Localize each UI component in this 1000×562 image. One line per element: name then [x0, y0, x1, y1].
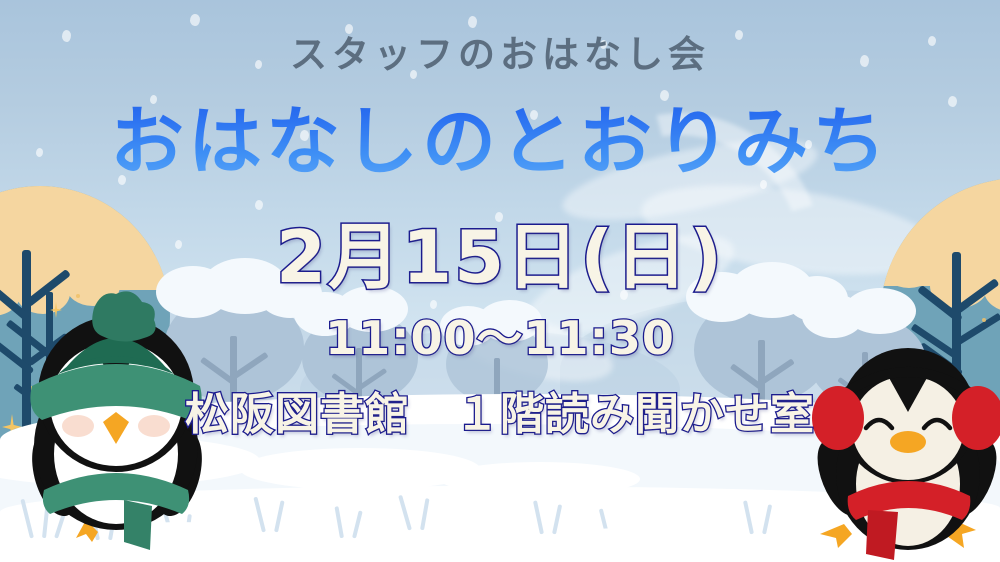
event-subtitle: スタッフのおはなし会 — [0, 24, 1000, 78]
event-location: 松阪図書館 １階読み聞かせ室 — [0, 378, 1000, 442]
event-title: おはなしのとおりみち — [0, 82, 1000, 189]
penguin-scarf-tail — [866, 510, 898, 560]
event-poster: スタッフのおはなし会 おはなしのとおりみち 2月15日(日) 11:00〜11:… — [0, 0, 1000, 562]
snow-patch — [560, 528, 690, 552]
penguin-left-foot — [820, 524, 852, 548]
event-time: 11:00〜11:30 — [0, 302, 1000, 368]
penguin-scarf-tail — [124, 500, 152, 550]
event-date: 2月15日(日) — [0, 198, 1000, 303]
